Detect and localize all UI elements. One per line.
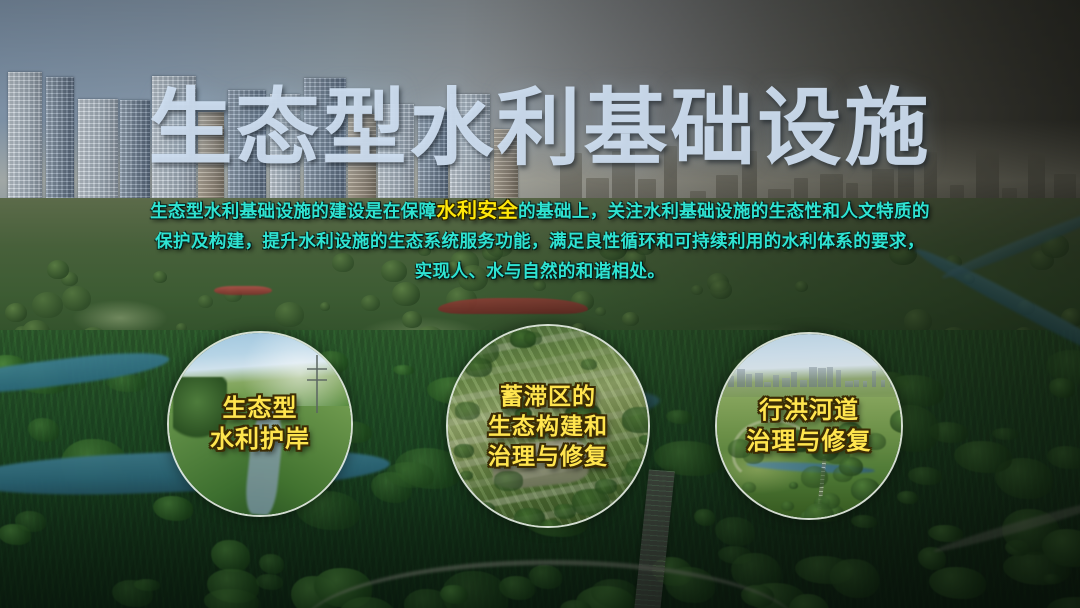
skyline-building <box>773 375 779 387</box>
caption-line: 治理与修复 <box>747 426 872 457</box>
power-pylon <box>316 355 318 413</box>
hedge-clump <box>639 435 650 445</box>
skyline-building <box>782 378 790 387</box>
topic-circle-flood-channel[interactable]: 行洪河道 治理与修复 <box>715 332 903 520</box>
park-tree <box>839 457 863 476</box>
skyline-building <box>836 370 841 387</box>
skyline-building <box>746 374 752 387</box>
hedge-clump <box>465 358 492 377</box>
park-tree <box>801 466 828 488</box>
topic-circle-detention-area[interactable]: 蓄滞区的 生态构建和 治理与修复 <box>446 324 650 528</box>
skyline-building <box>818 368 826 387</box>
circle-caption: 生态型 水利护岸 <box>210 393 310 455</box>
skyline-building <box>755 373 763 387</box>
caption-line: 生态构建和 <box>488 411 608 441</box>
hedge-clump <box>615 332 646 354</box>
slide-canvas: 生态型水利基础设施 生态型水利基础设施的建设是在保障水利安全的基础上，关注水利基… <box>0 0 1080 608</box>
park-tree <box>781 501 794 511</box>
skyline-building <box>827 367 833 387</box>
hedge-clump <box>540 520 562 528</box>
hedge-clump <box>622 407 650 433</box>
park-tree <box>742 482 756 493</box>
skyline-building <box>872 371 876 387</box>
skyline-building <box>845 381 853 387</box>
body-segment-1: 生态型水利基础设施的建设是在保障 <box>150 201 436 221</box>
body-highlight: 水利安全 <box>437 200 519 222</box>
skyline-building <box>737 369 745 387</box>
hedge-clump <box>581 359 597 370</box>
park-tree <box>789 482 798 489</box>
hedge-clump <box>454 444 474 458</box>
skyline-building <box>800 380 807 387</box>
park-tree <box>851 478 880 501</box>
circle-caption: 蓄滞区的 生态构建和 治理与修复 <box>488 381 608 471</box>
hedge-clump <box>460 471 473 480</box>
caption-line: 生态型 <box>210 393 310 424</box>
skyline-building <box>764 382 771 387</box>
skyline-building <box>791 372 797 387</box>
skyline-building <box>728 376 734 387</box>
hedge-clump <box>455 402 480 420</box>
skyline-building <box>890 376 894 387</box>
skyline-building <box>809 367 817 387</box>
caption-line: 行洪河道 <box>747 395 872 426</box>
park-tree <box>748 502 768 518</box>
circle-caption: 行洪河道 治理与修复 <box>747 395 872 457</box>
hedge-clump <box>621 467 645 484</box>
distant-city-skyline <box>728 365 890 387</box>
hedge-clump <box>494 471 523 491</box>
skyline-building <box>854 380 859 387</box>
content-layer: 生态型水利基础设施 生态型水利基础设施的建设是在保障水利安全的基础上，关注水利基… <box>0 0 1080 608</box>
skyline-building <box>881 380 885 387</box>
hedge-clump <box>472 502 495 518</box>
skyline-building <box>863 381 867 387</box>
body-paragraph: 生态型水利基础设施的建设是在保障水利安全的基础上，关注水利基础设施的生态性和人文… <box>150 196 930 286</box>
topic-circle-eco-revetment[interactable]: 生态型 水利护岸 <box>167 331 353 517</box>
hedge-clump <box>524 332 542 345</box>
caption-line: 水利护岸 <box>210 424 310 455</box>
page-title: 生态型水利基础设施 <box>0 86 1080 170</box>
caption-line: 蓄滞区的 <box>488 381 608 411</box>
park-tree <box>887 488 903 510</box>
hedge-clump <box>595 479 617 494</box>
park-tree <box>804 503 834 520</box>
caption-line: 治理与修复 <box>488 441 608 471</box>
